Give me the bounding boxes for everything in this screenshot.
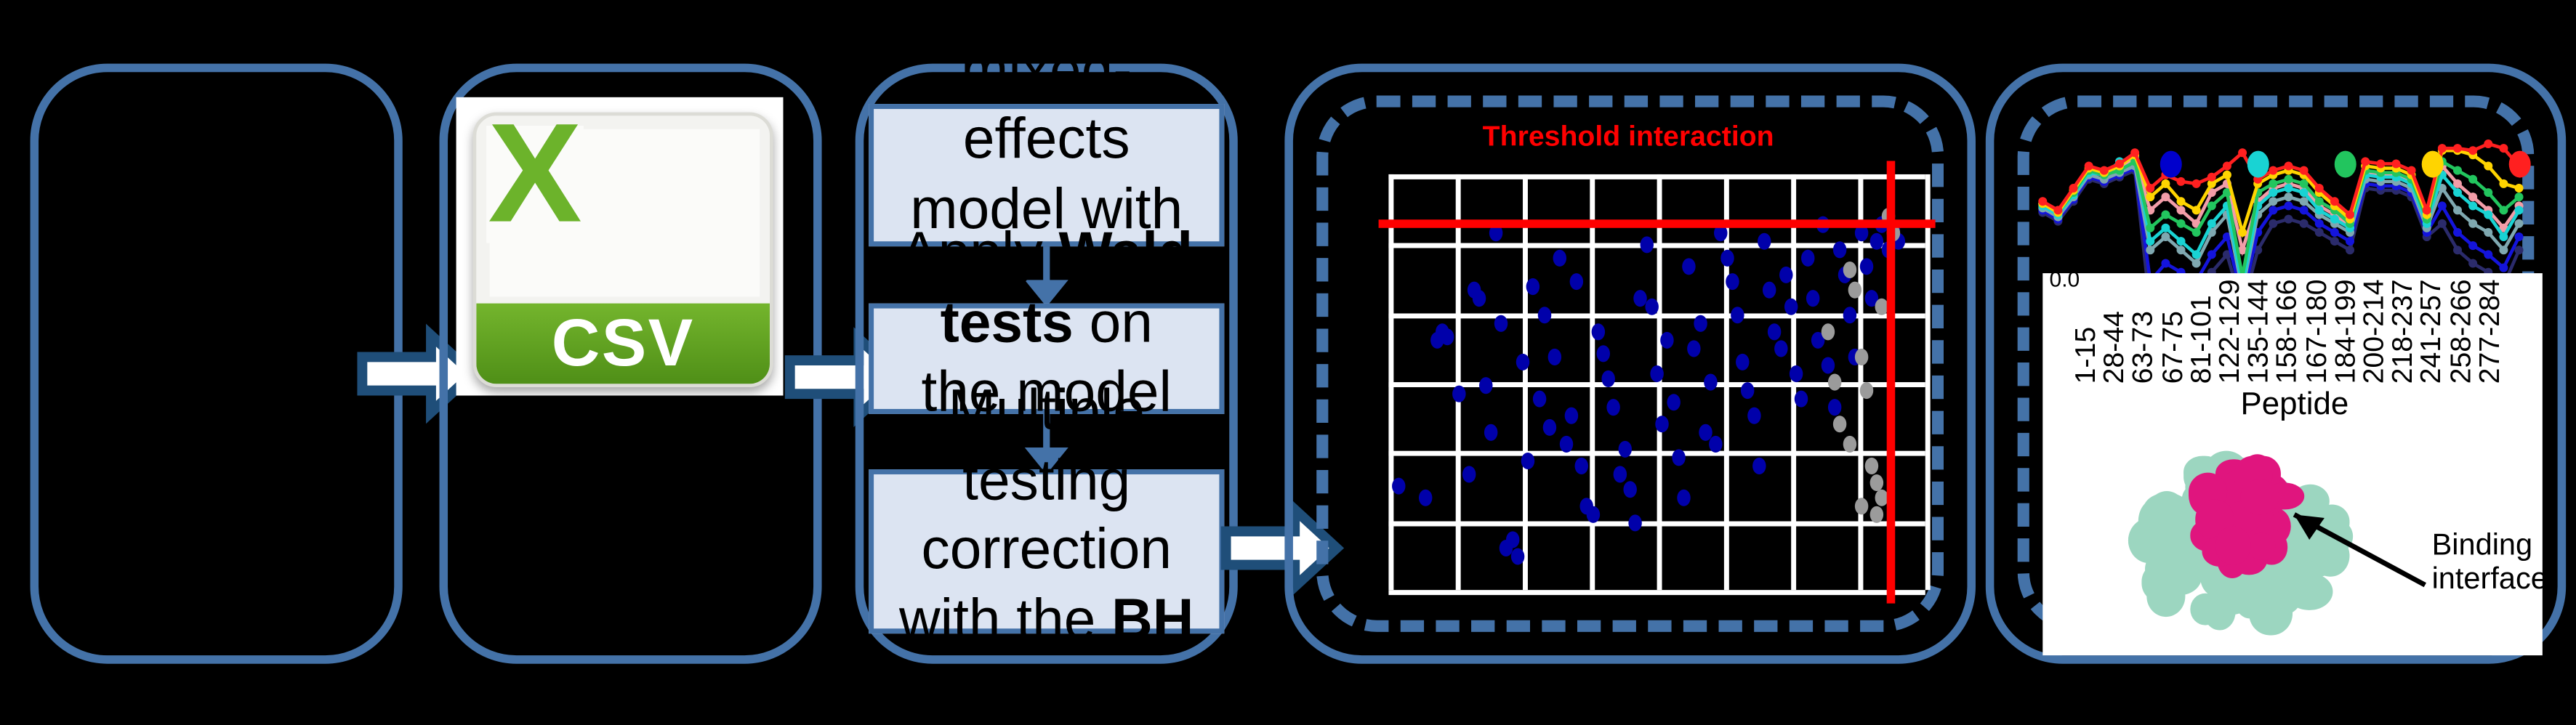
peptide-marker bbox=[2499, 232, 2508, 241]
peptide-marker bbox=[2284, 193, 2293, 201]
gridline-vertical bbox=[1456, 174, 1461, 590]
peptide-marker bbox=[2192, 259, 2201, 268]
peptide-marker bbox=[2161, 224, 2170, 232]
scatter-point-nonsignificant bbox=[1832, 416, 1846, 432]
csv-format-band: CSV bbox=[476, 304, 770, 384]
peptide-marker bbox=[2207, 219, 2216, 228]
peptide-marker bbox=[2177, 246, 2186, 254]
binding-interface-arrow-icon bbox=[2258, 498, 2436, 598]
peptide-marker bbox=[2161, 211, 2170, 219]
scatter-point-significant bbox=[1795, 390, 1808, 407]
peptide-marker bbox=[2330, 237, 2339, 246]
scatter-point-significant bbox=[1806, 291, 1819, 307]
peptide-marker bbox=[2053, 206, 2062, 214]
threshold-interaction-line bbox=[1379, 219, 1936, 227]
peptide-marker bbox=[2453, 206, 2462, 214]
scatter-point-significant bbox=[1570, 274, 1583, 291]
scatter-point-nonsignificant bbox=[1822, 324, 1835, 341]
legend-dot-timepoint-1 bbox=[2160, 151, 2182, 178]
protein-surface-blob bbox=[2146, 546, 2190, 586]
scatter-point-significant bbox=[1510, 548, 1524, 565]
bh-line1: Multiple testing bbox=[949, 379, 1145, 512]
peptide-marker bbox=[2330, 215, 2339, 224]
scatter-point-significant bbox=[1484, 424, 1497, 440]
scatter-point-nonsignificant bbox=[1870, 474, 1883, 490]
fit-line1: Fit a linear mixed- bbox=[914, 0, 1180, 102]
bh-emphasis: BH bbox=[1111, 588, 1194, 652]
scatter-point-significant bbox=[1393, 478, 1406, 495]
csv-icon-card: X CSV bbox=[456, 97, 784, 396]
peptide-marker bbox=[2346, 237, 2354, 246]
scatter-point-significant bbox=[1516, 353, 1529, 370]
peptide-marker bbox=[2515, 246, 2524, 254]
peptide-marker bbox=[2315, 219, 2324, 228]
peptide-tick-labels: 1-1528-4463-7367-7581-101122-129135-1441… bbox=[2042, 273, 2543, 391]
scatter-point-significant bbox=[1656, 416, 1669, 432]
peptide-marker bbox=[2269, 188, 2277, 197]
binding-interface-label: Binding interface bbox=[2432, 528, 2548, 596]
scatter-point-nonsignificant bbox=[1854, 349, 1867, 365]
peptide-marker bbox=[2038, 197, 2047, 206]
scatter-point-significant bbox=[1613, 465, 1626, 482]
scatter-point-significant bbox=[1607, 399, 1620, 416]
peptide-tick-label: 63-73 bbox=[2128, 311, 2161, 384]
scatter-point-significant bbox=[1774, 341, 1787, 357]
scatter-point-nonsignificant bbox=[1859, 382, 1872, 399]
volcano-plot-area bbox=[1388, 174, 1925, 590]
peptide-marker bbox=[2069, 184, 2078, 193]
scatter-point-significant bbox=[1677, 490, 1690, 507]
peptide-marker bbox=[2453, 188, 2462, 197]
peptide-marker bbox=[2207, 250, 2216, 259]
scatter-point-significant bbox=[1537, 307, 1550, 324]
legend-dot-timepoint-4 bbox=[2422, 151, 2444, 178]
scatter-point-significant bbox=[1602, 370, 1615, 386]
bh-line2: correction bbox=[922, 519, 1172, 583]
peptide-marker bbox=[2269, 206, 2277, 214]
peptide-marker bbox=[2453, 228, 2462, 237]
scatter-point-significant bbox=[1672, 448, 1685, 465]
scatter-point-significant bbox=[1494, 315, 1508, 332]
peptide-marker bbox=[2192, 228, 2201, 237]
peptide-marker bbox=[2499, 246, 2508, 254]
scatter-point-nonsignificant bbox=[1843, 262, 1856, 278]
peptide-marker bbox=[2177, 206, 2186, 214]
scatter-point-significant bbox=[1747, 407, 1760, 424]
peptide-marker bbox=[2330, 228, 2339, 237]
csv-x-letter: X bbox=[483, 113, 587, 240]
gridline-vertical bbox=[1657, 174, 1662, 590]
bh-tail: procedure bbox=[918, 657, 1175, 721]
scatter-point-nonsignificant bbox=[1843, 436, 1856, 453]
scatter-point-significant bbox=[1591, 324, 1604, 341]
peptide-marker bbox=[2484, 250, 2492, 259]
scatter-point-significant bbox=[1564, 407, 1577, 424]
scatter-point-significant bbox=[1532, 390, 1545, 407]
scatter-point-significant bbox=[1543, 419, 1556, 436]
scatter-point-significant bbox=[1704, 374, 1717, 391]
scatter-point-significant bbox=[1661, 332, 1674, 349]
gridline-vertical bbox=[1590, 174, 1595, 590]
peptide-marker bbox=[2484, 228, 2492, 237]
scatter-point-significant bbox=[1597, 344, 1610, 361]
wald-tail: on bbox=[1074, 291, 1153, 355]
peptide-marker bbox=[2484, 211, 2492, 219]
gridline-vertical bbox=[1388, 174, 1393, 590]
peptide-marker bbox=[2330, 197, 2339, 206]
scatter-point-significant bbox=[1559, 436, 1572, 453]
peptide-marker bbox=[2315, 228, 2324, 237]
scatter-point-significant bbox=[1731, 307, 1744, 324]
peptide-marker bbox=[2238, 228, 2247, 237]
peptide-marker bbox=[2161, 193, 2170, 201]
scatter-point-significant bbox=[1623, 482, 1636, 498]
peptide-axis-label: Peptide bbox=[2241, 387, 2349, 424]
peptide-marker bbox=[2423, 206, 2431, 214]
scatter-point-significant bbox=[1527, 278, 1540, 295]
figure-canvas: X CSV Fit a linear mixed- effects model … bbox=[0, 0, 2576, 687]
scatter-point-significant bbox=[1688, 341, 1701, 357]
scatter-point-significant bbox=[1843, 307, 1856, 324]
scatter-point-significant bbox=[1800, 249, 1814, 266]
peptide-marker bbox=[2300, 206, 2309, 214]
scatter-point-significant bbox=[1473, 291, 1486, 307]
peptide-tick-label: 277-284 bbox=[2474, 279, 2507, 384]
peptide-marker bbox=[2177, 237, 2186, 246]
legend-dot-timepoint-2 bbox=[2247, 151, 2269, 178]
binding-line1: Binding bbox=[2432, 528, 2548, 562]
peptide-marker bbox=[2346, 211, 2354, 219]
peptide-legend bbox=[2029, 151, 2532, 185]
scatter-point-significant bbox=[1822, 357, 1835, 374]
scatter-point-significant bbox=[1832, 240, 1846, 257]
peptide-marker bbox=[2146, 193, 2154, 201]
scatter-point-significant bbox=[1790, 365, 1803, 382]
legend-dot-timepoint-3 bbox=[2335, 151, 2356, 178]
peptide-marker bbox=[2269, 197, 2277, 206]
peptide-marker bbox=[2207, 201, 2216, 210]
peptide-marker bbox=[2515, 219, 2524, 228]
peptide-marker bbox=[2146, 224, 2154, 232]
scatter-point-significant bbox=[1650, 365, 1663, 382]
peptide-marker bbox=[2177, 197, 2186, 206]
legend-dot-timepoint-5 bbox=[2509, 151, 2531, 178]
scatter-point-significant bbox=[1779, 266, 1792, 283]
peptide-marker bbox=[2468, 193, 2477, 201]
bh-prefix: with the bbox=[899, 588, 1111, 652]
scatter-point-significant bbox=[1462, 465, 1476, 482]
scatter-point-nonsignificant bbox=[1865, 457, 1878, 474]
peptide-marker bbox=[2192, 250, 2201, 259]
scatter-point-significant bbox=[1827, 399, 1840, 416]
volcano-scatter: Threshold interaction Threshold state bbox=[1325, 104, 1946, 627]
peptide-marker bbox=[2468, 241, 2477, 250]
scatter-point-significant bbox=[1768, 324, 1782, 341]
scatter-point-significant bbox=[1548, 349, 1561, 365]
scatter-point-significant bbox=[1640, 237, 1653, 254]
threshold-interaction-label: Threshold interaction bbox=[1483, 121, 1774, 154]
csv-icon-body: X CSV bbox=[473, 113, 773, 387]
peptide-marker bbox=[2146, 246, 2154, 254]
peptide-marker bbox=[2346, 246, 2354, 254]
scatter-point-significant bbox=[1859, 257, 1872, 274]
scatter-point-significant bbox=[1763, 283, 1776, 299]
peptide-marker bbox=[2315, 184, 2324, 193]
peptide-marker bbox=[2438, 201, 2447, 210]
gridline-vertical bbox=[1925, 174, 1931, 590]
peptide-inset-white-card: 0.0 1-1528-4463-7367-7581-101122-129135-… bbox=[2042, 273, 2543, 655]
step-bh-text: Multiple testing correction with the BH … bbox=[887, 378, 1206, 725]
peptide-marker bbox=[2284, 184, 2293, 193]
scatter-point-significant bbox=[1629, 515, 1642, 532]
peptide-marker bbox=[2515, 193, 2524, 201]
peptide-tick-label: 158-166 bbox=[2271, 279, 2305, 384]
scatter-point-significant bbox=[1752, 457, 1766, 474]
peptide-marker bbox=[2515, 206, 2524, 214]
peptide-marker bbox=[2515, 232, 2524, 241]
scatter-point-significant bbox=[1683, 257, 1696, 274]
scatter-point-significant bbox=[1553, 249, 1566, 266]
peptide-marker bbox=[2284, 201, 2293, 210]
threshold-state-line bbox=[1887, 161, 1896, 604]
wald-prefix: Apply bbox=[900, 222, 1058, 285]
gridline-vertical bbox=[1523, 174, 1528, 590]
ligand-surface-blob bbox=[2215, 527, 2250, 564]
step-multiple-testing[interactable]: Multiple testing correction with the BH … bbox=[869, 469, 1224, 633]
scatter-point-significant bbox=[1758, 232, 1771, 249]
peptide-marker bbox=[2499, 206, 2508, 214]
peptide-marker bbox=[2192, 206, 2201, 214]
scatter-point-nonsignificant bbox=[1827, 374, 1840, 391]
peptide-marker bbox=[2177, 219, 2186, 228]
peptide-marker bbox=[2438, 219, 2447, 228]
scatter-point-significant bbox=[1521, 453, 1534, 469]
scatter-point-significant bbox=[1618, 440, 1631, 457]
peptide-marker bbox=[2300, 219, 2309, 228]
peptide-marker bbox=[2284, 215, 2293, 224]
scatter-point-significant bbox=[1420, 490, 1433, 507]
peptide-marker bbox=[2146, 184, 2154, 193]
scatter-point-significant bbox=[1575, 457, 1588, 474]
peptide-marker bbox=[2515, 184, 2524, 193]
peptide-marker bbox=[2484, 188, 2492, 197]
peptide-marker bbox=[2146, 237, 2154, 246]
peptide-marker bbox=[2161, 232, 2170, 241]
scatter-point-nonsignificant bbox=[1854, 498, 1867, 515]
scatter-point-significant bbox=[1452, 386, 1465, 403]
peptide-marker bbox=[2468, 219, 2477, 228]
peptide-marker bbox=[2499, 264, 2508, 272]
peptide-marker bbox=[2453, 246, 2462, 254]
scatter-point-significant bbox=[1720, 249, 1733, 266]
scatter-point-significant bbox=[1736, 353, 1749, 370]
scatter-point-significant bbox=[1693, 315, 1706, 332]
peptide-marker bbox=[2161, 259, 2170, 268]
peptide-marker bbox=[2468, 259, 2477, 268]
peptide-tick-label: 241-257 bbox=[2415, 279, 2449, 384]
scatter-point-significant bbox=[1478, 378, 1492, 394]
peptide-marker bbox=[2315, 197, 2324, 206]
scatter-point-significant bbox=[1667, 394, 1680, 411]
gridline-horizontal bbox=[1388, 590, 1925, 595]
input-data-panel[interactable] bbox=[31, 64, 403, 664]
peptide-marker bbox=[2269, 219, 2277, 228]
scatter-point-significant bbox=[1441, 328, 1454, 345]
scatter-point-significant bbox=[1710, 436, 1723, 453]
peptide-marker bbox=[2315, 206, 2324, 214]
csv-format-label: CSV bbox=[552, 306, 695, 381]
binding-line2: interface bbox=[2432, 562, 2548, 596]
peptide-marker bbox=[2468, 201, 2477, 210]
peptide-marker bbox=[2484, 139, 2492, 148]
